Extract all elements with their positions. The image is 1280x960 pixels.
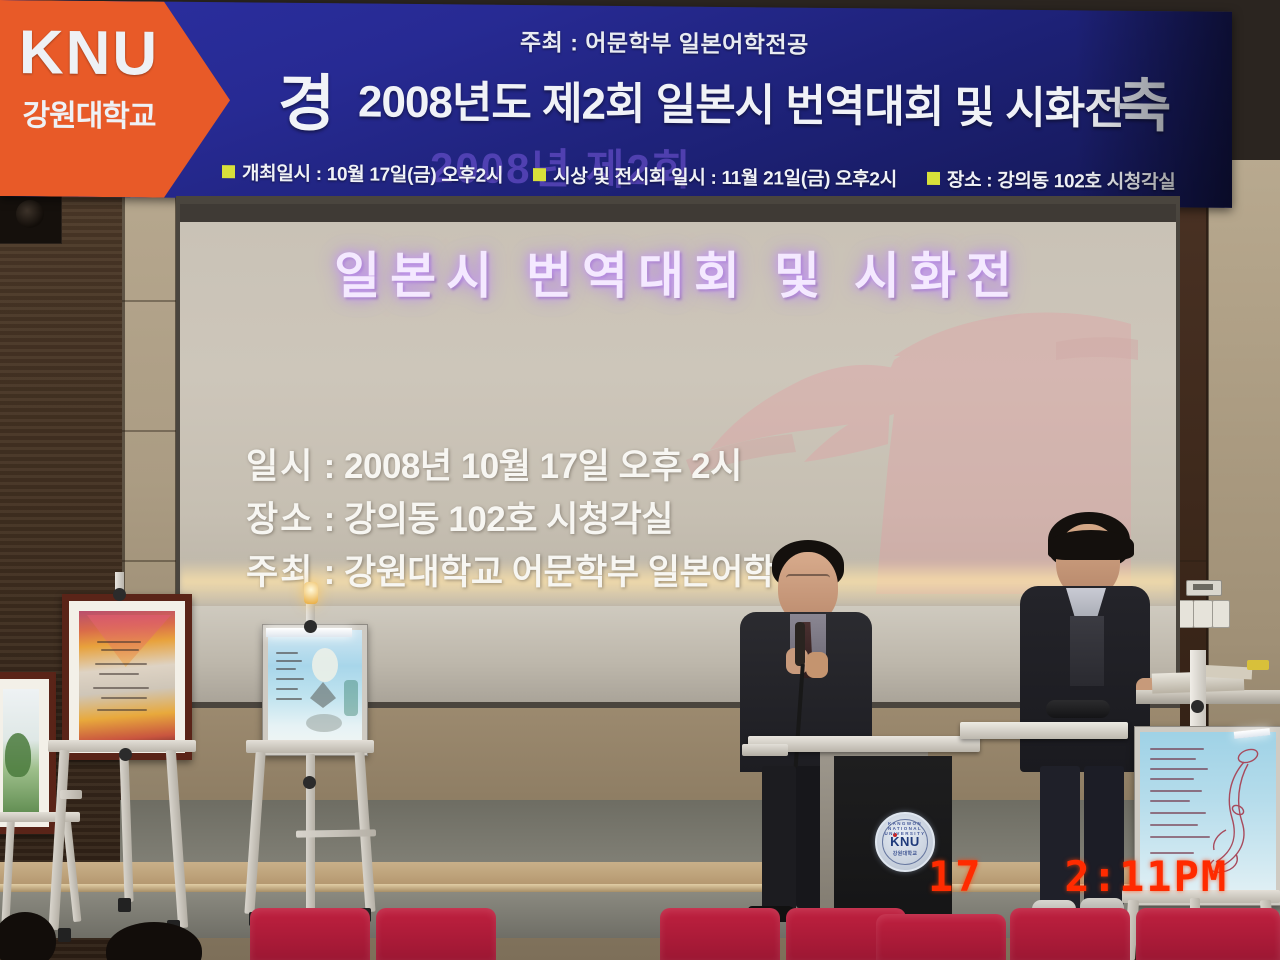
wall-outlet[interactable]	[1193, 600, 1213, 628]
easel-crossbar	[60, 790, 82, 799]
audience-seat	[660, 908, 780, 960]
easel-tray	[246, 740, 374, 753]
slide-row-2: 주최 : 강원대학교 어문학부 일본어학전공	[246, 546, 838, 599]
banner-celebrate-left: 경	[278, 53, 335, 144]
knu-logo-korean: 강원대학교	[0, 90, 204, 136]
speaker-cone-icon	[16, 200, 44, 228]
artwork-mat	[0, 679, 49, 827]
speaker-glasses-icon	[786, 574, 830, 586]
podium-left-lip	[742, 744, 788, 756]
easel-lamp-arm	[1190, 650, 1206, 726]
slide-row-1-sep: :	[324, 500, 335, 539]
wall-seam	[122, 560, 176, 562]
banner-info-item-0: 개최일시 : 10월 17일(금) 오후2시	[242, 158, 503, 188]
slide-row-2-value: 강원대학교 어문학부 일본어학전공	[344, 553, 838, 592]
artwork-canvas	[3, 689, 39, 817]
slide-row-1-label: 장소	[246, 500, 314, 539]
speaker-leg	[762, 766, 796, 914]
event-banner: KNU 강원대학교 2008년 제2회 주최 : 어문학부 일본어학전공 경 2…	[0, 0, 1232, 208]
knu-logo-latin: KNU	[0, 22, 204, 86]
easel-knob	[303, 776, 316, 789]
podium-side-ledge	[960, 722, 1128, 739]
banner-info-item-1: 시상 및 전시회 일시 : 11월 21일(금) 오후2시	[553, 161, 897, 191]
easel-knob	[304, 620, 317, 633]
knu-logo: KNU 강원대학교	[0, 22, 204, 136]
slide-row-1-value: 강의동 102호 시청각실	[344, 500, 673, 539]
bullet-square-icon	[533, 168, 546, 181]
bullet-square-icon	[222, 165, 235, 178]
slide-row-0-value: 2008년 10월 17일 오후 2시	[344, 447, 742, 486]
wall-seam	[122, 300, 176, 302]
right-man-sweater	[1070, 616, 1104, 686]
easel-knob	[1191, 700, 1204, 713]
slide-row-1: 장소 : 강의동 102호 시청각실	[246, 493, 838, 546]
seal-latin-text: KNU	[877, 834, 933, 849]
wall-seam	[122, 430, 176, 432]
easel-foot	[58, 928, 71, 942]
wall-outlet[interactable]	[1212, 600, 1230, 628]
artwork-canvas	[79, 611, 175, 743]
photo-scene: KNU 강원대학교 2008년 제2회 주최 : 어문학부 일본어학전공 경 2…	[0, 0, 1280, 960]
banner-info-line: 개최일시 : 10월 17일(금) 오후2시 시상 및 전시회 일시 : 11월…	[222, 158, 1175, 194]
artwork-canvas	[268, 630, 362, 750]
artwork-left-partial	[0, 672, 56, 834]
right-man-fringe	[1048, 530, 1134, 560]
artwork-mat	[69, 601, 185, 753]
podium-knu-seal: KANGWON NATIONAL UNIVERSITY KNU 강원대학교	[875, 812, 935, 872]
speaker-hand-right	[806, 652, 828, 678]
easel-knob	[113, 588, 126, 601]
camera-timestamp: 17 2:11PM	[928, 852, 1228, 901]
slide-row-0-sep: :	[324, 447, 335, 486]
lamp-bulb-icon	[304, 582, 318, 604]
banner-shading	[1075, 10, 1232, 208]
banner-title: 2008년도 제2회 일본시 번역대회 및 시화전	[358, 65, 1124, 136]
artwork-blue	[262, 624, 368, 756]
outlet-slots-icon	[1193, 584, 1213, 590]
easel-tray	[0, 812, 80, 822]
easel-foot	[118, 898, 131, 912]
easel-crossbar	[296, 829, 376, 837]
bullet-square-icon	[927, 172, 940, 185]
slide-row-0-label: 일시	[246, 447, 314, 486]
slide-row-0: 일시 : 2008년 10월 17일 오후 2시	[246, 440, 838, 493]
podium-dark-device[interactable]	[1046, 700, 1110, 718]
banner-host-line: 주최 : 어문학부 일본어학전공	[520, 23, 809, 60]
table-yellow-item	[1247, 660, 1269, 670]
audience-seat	[876, 914, 1006, 960]
slide-title: 일본시 번역대회 및 시화전	[238, 236, 1118, 308]
artwork-warm	[62, 594, 192, 760]
microphone[interactable]	[795, 622, 805, 666]
easel-knob	[119, 748, 132, 761]
audience-seat	[1010, 908, 1130, 960]
seal-korean-text: 강원대학교	[877, 850, 933, 857]
audience-seat	[1136, 908, 1280, 960]
slide-body: 일시 : 2008년 10월 17일 오후 2시 장소 : 강의동 102호 시…	[246, 440, 838, 600]
slide-row-2-sep: :	[324, 553, 335, 592]
audience-seat	[250, 908, 370, 960]
audience-seat	[376, 908, 496, 960]
